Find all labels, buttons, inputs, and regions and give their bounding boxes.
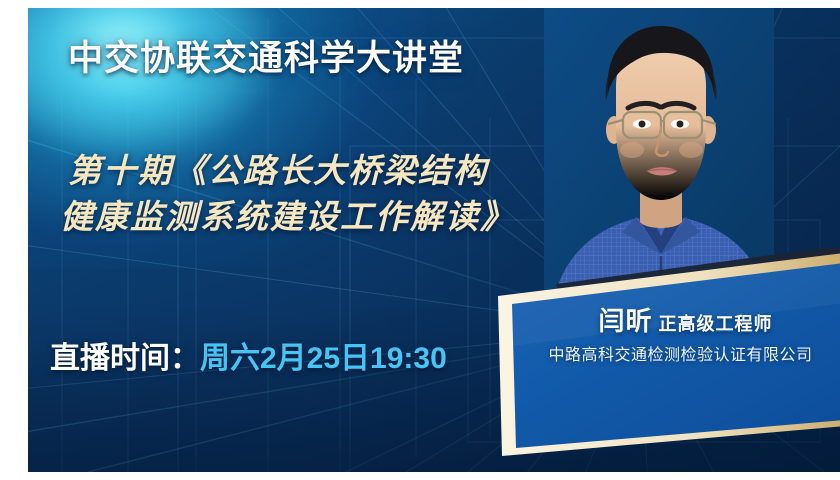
poster-subtitle: 第十期《公路长大桥梁结构 健康监测系统建设工作解读》 [68,148,515,239]
livestream-time-value: 周六2月25日19:30 [200,342,447,375]
speaker-card-shape [468,248,840,463]
poster-headline: 中交协联交通科学大讲堂 [68,30,464,81]
livestream-poster: 中交协联交通科学大讲堂 第十期《公路长大桥梁结构 健康监测系统建设工作解读》 直… [28,8,840,472]
livestream-time: 直播时间：周六2月25日19:30 [50,333,447,377]
subtitle-line-2: 健康监测系统建设工作解读》 [60,194,515,240]
livestream-time-label: 直播时间： [50,342,200,375]
subtitle-line-1: 第十期《公路长大桥梁结构 [68,152,488,189]
speaker-card: 闫昕正高级工程师 中路高科交通检测检验认证有限公司 [468,248,840,463]
